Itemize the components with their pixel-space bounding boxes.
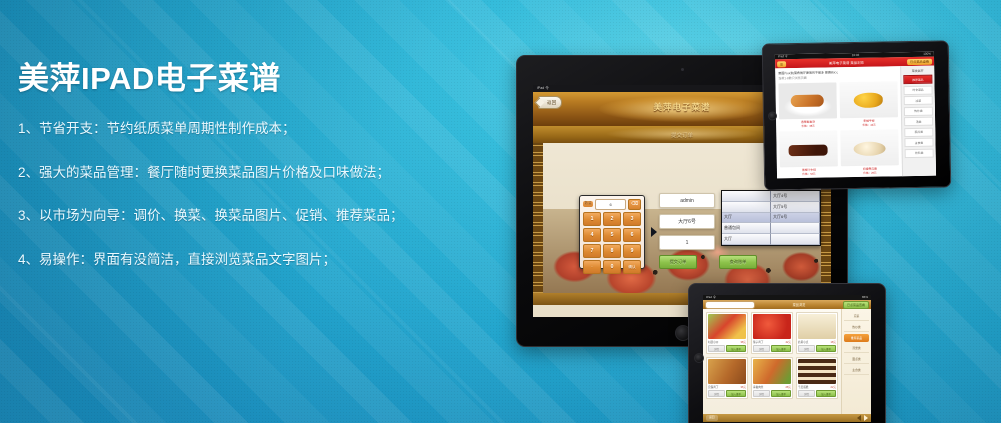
menu-icon[interactable]: ☰: [777, 61, 786, 67]
keypad-grid: 1 2 3 4 5 6 7 8 9 · 0 确认: [583, 212, 641, 274]
tablet-menu-grid: iPad 令 86% 菜品浏览 已点菜品查看 时蔬小炒 38元: [688, 283, 886, 423]
dish-name: 宫保鸡丁: [708, 385, 718, 389]
dish-actions: 详情 加入菜单: [798, 345, 836, 352]
dish-detail-button[interactable]: 详情: [753, 390, 770, 397]
promo-banner: 美萍IPAD电子菜谱 1、节省开支：节约纸质菜单周期性制作成本； 2、强大的菜品…: [0, 0, 1001, 423]
keypad-key-confirm[interactable]: 确认: [623, 260, 641, 274]
dish-meta: 时蔬小炒 38元: [708, 340, 746, 344]
sidebar-item-recommended[interactable]: 推荐菜品: [903, 75, 932, 85]
table-cell-selected[interactable]: 大厅: [722, 213, 771, 224]
category-sidebar: 菜类展开 推荐菜品 时令菜品 凉菜 热炒类 汤类 面点类 主食类 饮料类: [900, 66, 936, 177]
sidebar-item-soup[interactable]: 汤类: [904, 117, 933, 127]
keypad-key-4[interactable]: 4: [583, 228, 601, 242]
sidebar-item-pastry[interactable]: 面点类: [904, 127, 933, 137]
table-cell[interactable]: 大厅: [722, 234, 771, 245]
decorative-border-left: [533, 143, 543, 305]
keypad-input[interactable]: 6: [595, 199, 626, 210]
keypad-key-0[interactable]: 0: [603, 260, 621, 274]
dish-add-button[interactable]: 加入菜单: [771, 390, 791, 397]
dish-detail-button[interactable]: 详情: [708, 345, 725, 352]
dish-actions: 详情 加入菜单: [798, 390, 836, 397]
feature-item-3: 3、以市场为向导：调价、换菜、换菜品图片、促销、推荐菜品；: [18, 209, 488, 223]
pagination-controls: [857, 415, 868, 421]
dish-add-button[interactable]: 加入菜单: [726, 345, 746, 352]
dish-image: [708, 314, 746, 339]
keypad-key-dot[interactable]: ·: [583, 260, 601, 274]
status-carrier: iPad 令: [778, 54, 788, 59]
dish-detail-button[interactable]: 详情: [708, 390, 725, 397]
dish-grid: 时蔬小炒 38元 详情 加入菜单 辣子鸡丁: [706, 312, 838, 399]
dish-actions: 详情 加入菜单: [753, 390, 791, 397]
dish-card[interactable]: 彩椒牛柳 价格：42元: [839, 81, 898, 127]
table-cell[interactable]: [771, 234, 820, 245]
status-battery: 86%: [862, 295, 868, 300]
dish-price: 价格：56元: [802, 172, 815, 176]
dish-meta: 奶黄小点 18元: [798, 340, 836, 344]
numeric-keypad[interactable]: 数量 6 ⌫ 1 2 3 4 5 6 7 8: [579, 195, 645, 269]
status-carrier: iPad 令: [537, 85, 549, 92]
dish-price: 22元: [831, 385, 836, 389]
sidebar-item-seasonal[interactable]: 时令菜品: [903, 85, 932, 95]
dish-image: [779, 130, 838, 167]
dish-detail-button[interactable]: 详情: [753, 345, 770, 352]
dish-add-button[interactable]: 加入菜单: [726, 390, 746, 397]
sidebar-item-soup[interactable]: 汤羹类: [844, 344, 869, 353]
view-cart-button[interactable]: 已点菜品查看: [907, 58, 932, 64]
dish-price: 42元: [786, 340, 791, 344]
order-fields: admin 大厅6号 1: [659, 193, 715, 256]
back-button[interactable]: 返回: [706, 415, 718, 421]
dish-price: 价格：26元: [863, 171, 876, 175]
dish-image: [708, 359, 746, 384]
sidebar-item-staple[interactable]: 主食类: [844, 366, 869, 375]
table-cell[interactable]: 大厅4号: [771, 191, 820, 202]
status-clock: 10:02: [852, 53, 860, 58]
dish-card[interactable]: 千层蛋糕 22元 详情 加入菜单: [796, 357, 838, 399]
dish-card[interactable]: 辣子鸡丁 42元 详情 加入菜单: [751, 312, 793, 354]
sidebar-item-pastry[interactable]: 面点类: [844, 355, 869, 364]
menu-body: 时蔬小炒 38元 详情 加入菜单 辣子鸡丁: [703, 309, 871, 414]
dish-price: 18元: [831, 340, 836, 344]
dish-card[interactable]: 青椒肉丝 28元 详情 加入菜单: [751, 357, 793, 399]
dish-grid-panel: 菜图片xx张|菜肴餐厅更美的不是多 是偏向心； 当前1-8数只浏览页面 香辣鱿鱼…: [775, 66, 902, 178]
query-bill-button[interactable]: 查询账单: [719, 255, 757, 269]
table-field[interactable]: 大厅6号: [659, 214, 715, 229]
dish-meta: 辣子鸡丁 42元: [753, 340, 791, 344]
tablet-br-screen: iPad 令 86% 菜品浏览 已点菜品查看 时蔬小炒 38元: [703, 295, 871, 422]
camera-icon: [681, 68, 684, 71]
keypad-key-6[interactable]: 6: [623, 228, 641, 242]
dish-image: [839, 81, 898, 118]
prev-arrow-icon[interactable]: [857, 415, 861, 421]
dish-image: [798, 359, 836, 384]
table-cell[interactable]: 大厅5号: [771, 202, 820, 213]
dish-name: 千层蛋糕: [798, 385, 808, 389]
dish-name: 青椒肉丝: [753, 385, 763, 389]
keypad-key-5[interactable]: 5: [603, 228, 621, 242]
pointer-arrow-icon: [651, 227, 657, 237]
dish-image: [753, 359, 791, 384]
table-cell-selected[interactable]: 大厅6号: [771, 213, 820, 224]
keypad-key-1[interactable]: 1: [583, 212, 601, 226]
dish-actions: 详情 加入菜单: [753, 345, 791, 352]
sidebar-header: 菜类展开: [903, 69, 932, 74]
toolbar-title: 菜品浏览: [793, 302, 806, 307]
dish-image: [778, 82, 837, 119]
app-toolbar: 菜品浏览 已点菜品查看: [703, 300, 871, 309]
table-cell[interactable]: [722, 191, 771, 202]
account-field[interactable]: admin: [659, 193, 715, 208]
next-arrow-icon[interactable]: [864, 415, 868, 421]
feature-item-2: 2、强大的菜品管理：餐厅随时更换菜品图片价格及口味做法；: [18, 166, 488, 180]
sidebar-item-recommended[interactable]: 推荐菜品: [844, 334, 869, 342]
table-selection-grid[interactable]: 大厅4号 大厅5号 大厅 大厅6号 普通包间 大厅: [721, 190, 821, 246]
keypad-key-3[interactable]: 3: [623, 212, 641, 226]
dish-card[interactable]: 宫保鸡丁 36元 详情 加入菜单: [706, 357, 748, 399]
backspace-icon[interactable]: ⌫: [628, 199, 641, 210]
keypad-key-7[interactable]: 7: [583, 244, 601, 258]
tablet-dish-browser: iPad 令 10:02 100% ☰ 美萍电子菜谱 菜品浏览 已点菜品查看 菜…: [762, 40, 952, 190]
dish-price: 36元: [741, 385, 746, 389]
keypad-display-row: 数量 6 ⌫: [583, 199, 641, 209]
dish-meta: 宫保鸡丁 36元: [708, 385, 746, 389]
dish-actions: 详情 加入菜单: [708, 390, 746, 397]
dish-meta: 千层蛋糕 22元: [798, 385, 836, 389]
table-cell[interactable]: 普通包间: [722, 223, 771, 234]
dish-name: 奶黄小点: [798, 340, 808, 344]
dish-detail-button[interactable]: 详情: [798, 345, 815, 352]
notice-text: 菜图片xx张|菜肴餐厅更美的不是多 是偏向心； 当前1-8数只浏览页面: [778, 69, 897, 80]
dish-card[interactable]: 奶黄小点 18元 详情 加入菜单: [796, 312, 838, 354]
dish-actions: 详情 加入菜单: [708, 345, 746, 352]
home-button[interactable]: [768, 111, 777, 120]
sidebar-item-staple[interactable]: 主食类: [904, 138, 933, 148]
sidebar-item-cold[interactable]: 凉菜: [904, 96, 933, 106]
dish-grid-panel: 时蔬小炒 38元 详情 加入菜单 辣子鸡丁: [703, 309, 841, 414]
dish-image: [798, 314, 836, 339]
dish-detail-button[interactable]: 详情: [798, 390, 815, 397]
feature-item-4: 4、易操作：界面有没简洁，直接浏览菜品文字图片；: [18, 253, 488, 267]
dish-add-button[interactable]: 加入菜单: [816, 390, 836, 397]
page-title: 美萍IPAD电子菜谱: [18, 62, 488, 96]
search-input[interactable]: [705, 301, 755, 309]
order-actions: 提交订单 查询账单: [659, 255, 757, 269]
home-button[interactable]: [694, 353, 704, 363]
dish-card[interactable]: 香辣鱿鱼须 价格：38元: [778, 82, 837, 128]
dish-image: [753, 314, 791, 339]
dish-name: 时蔬小炒: [708, 340, 718, 344]
keypad-key-8[interactable]: 8: [603, 244, 621, 258]
dish-price: 38元: [741, 340, 746, 344]
dish-price: 价格：42元: [862, 123, 875, 127]
dish-meta: 青椒肉丝 28元: [753, 385, 791, 389]
submit-order-button[interactable]: 提交订单: [659, 255, 697, 269]
keypad-label: 数量: [583, 201, 593, 207]
status-battery: 100%: [923, 52, 931, 57]
dish-name: 辣子鸡丁: [753, 340, 763, 344]
dish-price: 28元: [786, 385, 791, 389]
status-carrier: iPad 令: [706, 295, 716, 300]
browser-body: 菜图片xx张|菜肴餐厅更美的不是多 是偏向心； 当前1-8数只浏览页面 香辣鱿鱼…: [775, 66, 936, 179]
count-field[interactable]: 1: [659, 235, 715, 250]
back-button[interactable]: 返回: [538, 96, 562, 109]
dish-card[interactable]: 奶香南瓜羹 价格：26元: [840, 129, 899, 175]
keypad-key-9[interactable]: 9: [623, 244, 641, 258]
toolbar-title: 美萍电子菜谱 菜品浏览: [829, 60, 864, 66]
sidebar-item-drinks[interactable]: 饮料类: [905, 148, 934, 158]
dish-card[interactable]: 黑椒汁牛排 价格：56元: [779, 130, 838, 176]
table-cell[interactable]: [722, 202, 771, 213]
table-cell[interactable]: [771, 223, 820, 234]
tablet-tr-screen: iPad 令 10:02 100% ☰ 美萍电子菜谱 菜品浏览 已点菜品查看 菜…: [775, 52, 936, 179]
dish-grid: 香辣鱿鱼须 价格：38元 彩椒牛柳 价格：42元 黑椒汁牛排 价格：56元: [778, 81, 899, 176]
sidebar-item-cold[interactable]: 凉菜: [844, 312, 869, 321]
sidebar-item-stirfry[interactable]: 热炒类: [844, 323, 869, 332]
dish-add-button[interactable]: 加入菜单: [816, 345, 836, 352]
dish-image: [840, 129, 899, 166]
footer-bar: 返回: [703, 414, 871, 422]
keypad-key-2[interactable]: 2: [603, 212, 621, 226]
view-cart-button[interactable]: 已点菜品查看: [843, 301, 869, 309]
sidebar-item-stirfry[interactable]: 热炒类: [904, 106, 933, 116]
feature-item-1: 1、节省开支：节约纸质菜单周期性制作成本；: [18, 122, 488, 136]
dish-card[interactable]: 时蔬小炒 38元 详情 加入菜单: [706, 312, 748, 354]
promo-copy: 美萍IPAD电子菜谱 1、节省开支：节约纸质菜单周期性制作成本； 2、强大的菜品…: [18, 62, 488, 296]
dish-add-button[interactable]: 加入菜单: [771, 345, 791, 352]
dish-price: 价格：38元: [801, 124, 814, 128]
category-sidebar: 凉菜 热炒类 推荐菜品 汤羹类 面点类 主食类: [841, 309, 871, 414]
